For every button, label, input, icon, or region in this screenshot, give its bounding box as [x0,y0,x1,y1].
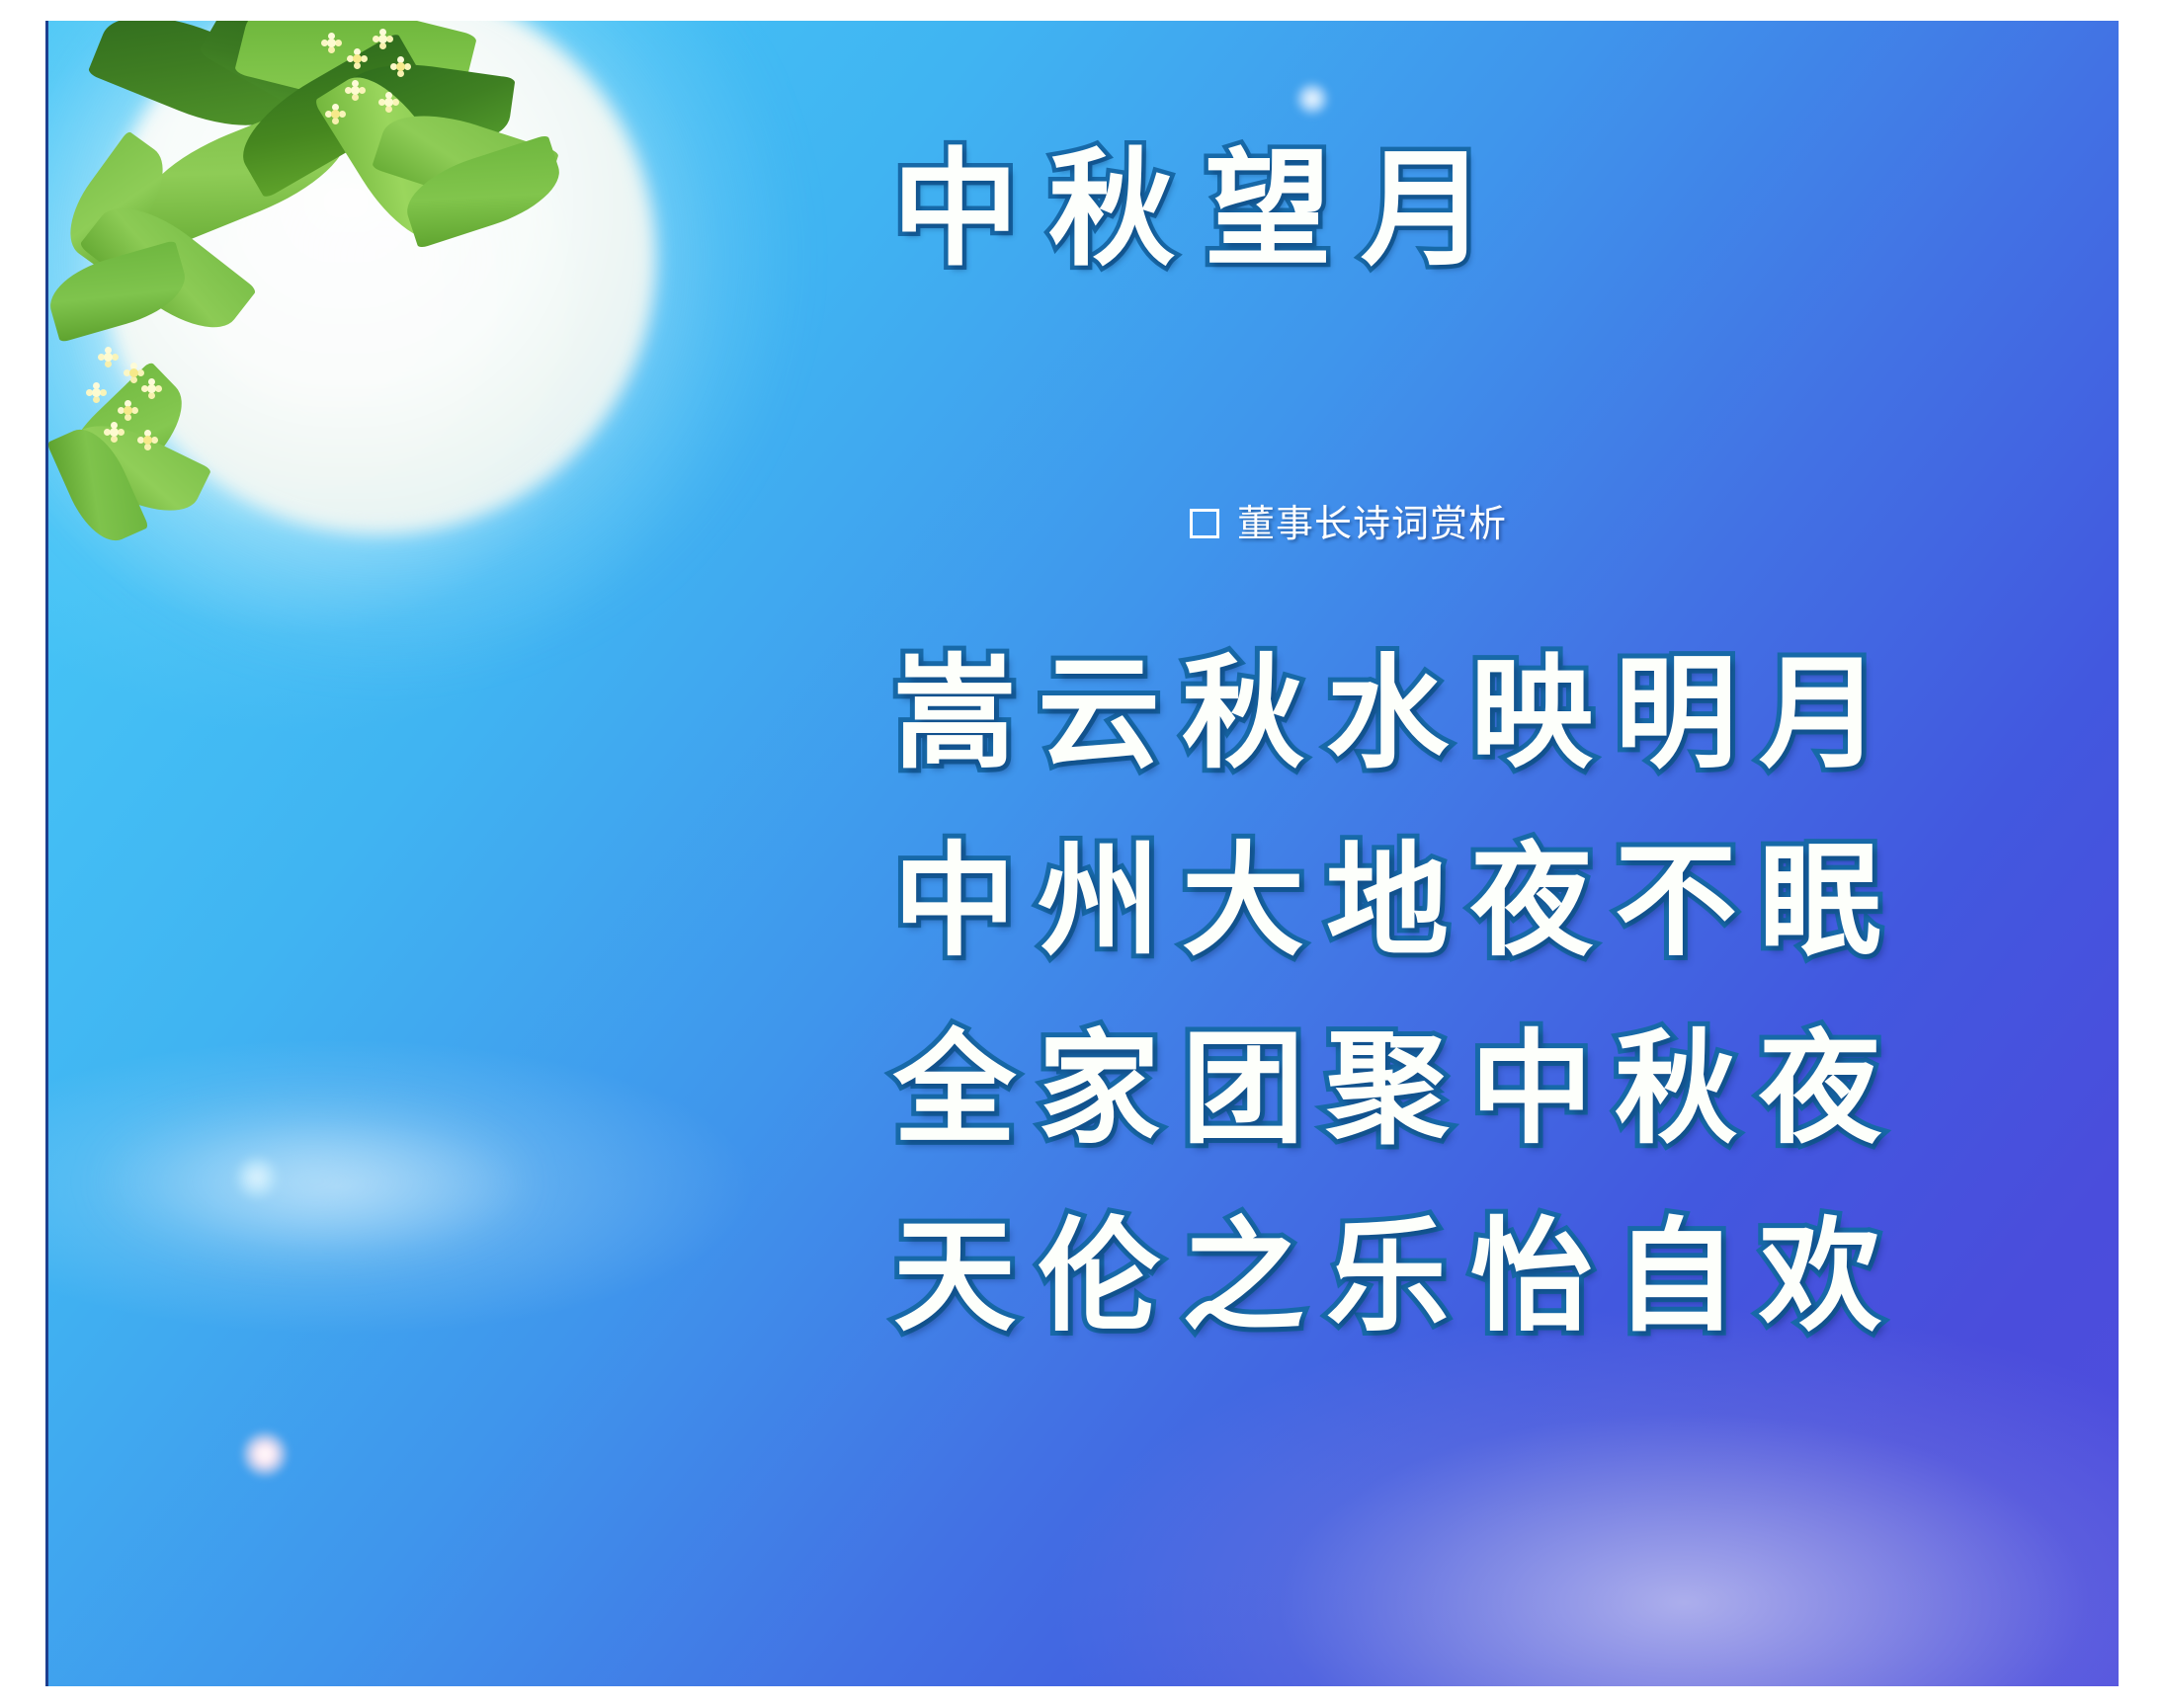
square-bullet-icon [1190,509,1219,538]
poem-line: 嵩云秋水映明月 [730,653,2044,811]
poem-line: 天伦之乐怡自欢 [730,1216,2044,1374]
poem-block: 嵩云秋水映明月 中州大地夜不眠 全家团聚中秋夜 天伦之乐怡自欢 [730,653,2044,1404]
slide-title: 中秋望月 [681,147,1728,274]
light-haze [108,1107,523,1256]
slide-canvas: 中秋望月 □董事长诗词赏析 嵩云秋水映明月 中州大地夜不眠 全家团聚中秋夜 天伦… [45,21,2119,1686]
slide-subtitle: □董事长诗词赏析 [1190,504,1507,545]
subtitle-text: 董事长诗词赏析 [1237,502,1507,545]
slide-page: 中秋望月 □董事长诗词赏析 嵩云秋水映明月 中州大地夜不眠 全家团聚中秋夜 天伦… [0,0,2164,1708]
poem-line: 中州大地夜不眠 [730,841,2044,999]
poem-line: 全家团聚中秋夜 [730,1028,2044,1186]
star-sparkle-icon [242,1431,288,1477]
star-sparkle-icon [1295,82,1329,116]
